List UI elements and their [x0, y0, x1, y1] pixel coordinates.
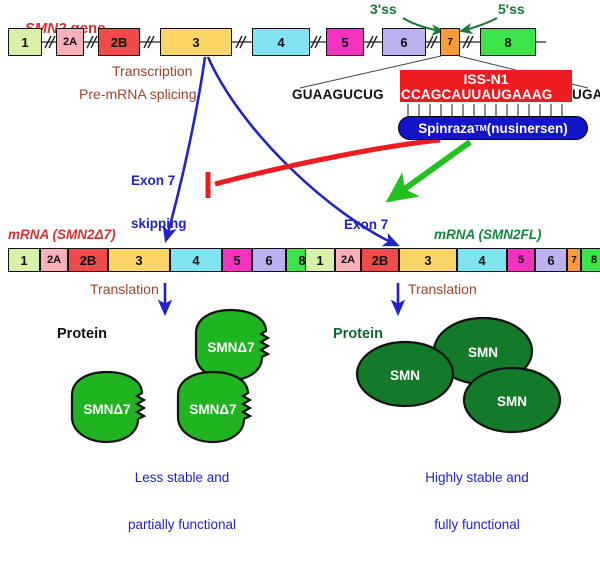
- gene-exon-label-4: 4: [277, 35, 284, 50]
- mrna-right-exon-label-1: 1: [316, 253, 323, 268]
- caption-left-line2: partially functional: [92, 517, 272, 533]
- sequence-flank-left: GUAAGUCUG: [292, 88, 384, 102]
- gene-exon-label-5: 5: [341, 35, 348, 50]
- mrna-left-exon-label-2b: 2B: [80, 253, 97, 268]
- mrna-left-exon-2b: 2B: [68, 248, 108, 272]
- iss-n1-label: ISS-N1: [463, 71, 508, 87]
- gene-exon-7: 7: [440, 28, 460, 56]
- gene-exon-label-6: 6: [400, 35, 407, 50]
- protein-label-smn-delta7-1: SMNΔ7: [207, 340, 254, 355]
- caption-right-line2: fully functional: [392, 517, 562, 533]
- gene-exon-label-2a: 2A: [63, 36, 77, 48]
- mrna-left-exon-3: 3: [108, 248, 170, 272]
- mrna-right-exon-label-2a: 2A: [341, 254, 355, 266]
- protein-label-smn-1: SMN: [468, 345, 498, 360]
- mrna-left-exon-4: 4: [170, 248, 222, 272]
- gene-exon-6: 6: [382, 28, 426, 56]
- protein-smn-delta7-3: SMNΔ7: [178, 372, 250, 442]
- protein-label-left: Protein: [57, 327, 107, 342]
- mrna-right-exon-5: 5: [507, 248, 535, 272]
- gene-exon-label-7: 7: [447, 37, 453, 48]
- gene-exon-2a: 2A: [56, 28, 84, 56]
- gene-exon-5: 5: [326, 28, 364, 56]
- mrna-right-exon-label-7: 7: [571, 255, 577, 266]
- spinraza-inhibition-arrow: [215, 140, 440, 184]
- exon7-skipping-line1: Exon 7: [131, 174, 187, 188]
- base-pairing-ticks: [408, 104, 562, 116]
- mrna-right-exon-2a: 2A: [335, 248, 361, 272]
- translation-label-right: Translation: [408, 282, 477, 297]
- exon7-skipping-line2: skipping: [131, 217, 187, 231]
- protein-label-right: Protein: [333, 327, 383, 342]
- spinraza-generic: (nusinersen): [487, 121, 568, 136]
- mrna-left-exon-label-6: 6: [265, 253, 272, 268]
- mrna-right-exon-3: 3: [399, 248, 457, 272]
- mrna-right-exon-label-4: 4: [478, 253, 485, 268]
- mrna-right-exon-1: 1: [305, 248, 335, 272]
- gene-exon-label-8: 8: [504, 35, 511, 50]
- mrna-right-label: mRNA (SMN2FL): [434, 228, 542, 242]
- mrna-right-exon-6: 6: [535, 248, 567, 272]
- exon7-inclusion-label: Exon 7 inclusion: [344, 190, 403, 303]
- spinraza-name: Spinraza: [418, 121, 474, 136]
- exon7-skipping-label: Exon 7 skipping: [131, 146, 187, 259]
- figure-canvas: SMNΔ7 SMNΔ7 SMNΔ7 SMN SMN SMN: [0, 0, 600, 477]
- mrna-right-exon-4: 4: [457, 248, 507, 272]
- mrna-right-exon-label-2b: 2B: [372, 253, 389, 268]
- mrna-left-exon-label-4: 4: [192, 253, 199, 268]
- mrna-right-exon-7: 7: [567, 248, 581, 272]
- caption-left-line1: Less stable and: [92, 470, 272, 486]
- gene-exon-label-1: 1: [21, 35, 28, 50]
- protein-smn-delta7-1: SMNΔ7: [196, 310, 268, 380]
- exon7-inclusion-line1: Exon 7: [344, 218, 403, 232]
- mrna-left-label: mRNA (SMN2Δ7): [8, 228, 116, 242]
- trademark-symbol: TM: [474, 123, 486, 133]
- mrna-left-exon-5: 5: [222, 248, 252, 272]
- mrna-right-exon-2b: 2B: [361, 248, 399, 272]
- mrna-left-exon-track: 12A2B34568: [0, 248, 330, 274]
- caption-right: Highly stable and fully functional: [392, 439, 562, 563]
- mrna-right-exon-8: 8: [581, 248, 600, 272]
- splicing-label: Pre-mRNA splicing: [79, 87, 196, 102]
- mrna-left-exon-1: 1: [8, 248, 40, 272]
- sequence-iss-n1: CCAGCAUUAUGAAAG: [401, 88, 553, 102]
- exon7-inclusion-promotion-arrow: [392, 142, 470, 198]
- translation-label-left: Translation: [90, 282, 159, 297]
- mrna-right-exon-label-5: 5: [518, 254, 524, 266]
- mrna-left-exon-label-1: 1: [20, 253, 27, 268]
- protein-label-smn-delta7-3: SMNΔ7: [189, 402, 236, 417]
- gene-exon-label-2b: 2B: [111, 35, 128, 50]
- mrna-left-exon-6: 6: [252, 248, 286, 272]
- mrna-right-exon-label-6: 6: [547, 253, 554, 268]
- mrna-left-exon-2a: 2A: [40, 248, 68, 272]
- spinraza-drug-oval[interactable]: SpinrazaTM (nusinersen): [398, 116, 588, 140]
- mrna-left-exon-label-5: 5: [233, 253, 240, 268]
- gene-exon-label-3: 3: [192, 35, 199, 50]
- protein-smn-delta7-2: SMNΔ7: [72, 372, 144, 442]
- protein-label-smn-2: SMN: [390, 368, 420, 383]
- protein-label-smn-delta7-2: SMNΔ7: [83, 402, 130, 417]
- mrna-right-exon-label-8: 8: [591, 254, 597, 266]
- gene-exon-3: 3: [160, 28, 232, 56]
- sequence-flank-right: UGA: [572, 88, 600, 102]
- transcription-label: Transcription: [112, 64, 192, 79]
- mrna-right-exon-label-3: 3: [424, 253, 431, 268]
- gene-exon-1: 1: [8, 28, 42, 56]
- mrna-left-exon-label-3: 3: [135, 253, 142, 268]
- caption-right-line1: Highly stable and: [392, 470, 562, 486]
- gene-exon-2b: 2B: [98, 28, 140, 56]
- gene-exon-8: 8: [480, 28, 536, 56]
- gene-exon-track: 12A2B345678: [0, 0, 600, 60]
- mrna-left-exon-label-2a: 2A: [47, 254, 61, 266]
- mrna-right-exon-track: 12A2B345678: [305, 248, 600, 274]
- gene-exon-4: 4: [252, 28, 310, 56]
- caption-left: Less stable and partially functional: [92, 439, 272, 563]
- protein-label-smn-3: SMN: [497, 394, 527, 409]
- protein-group-smn: SMN SMN SMN: [357, 318, 560, 432]
